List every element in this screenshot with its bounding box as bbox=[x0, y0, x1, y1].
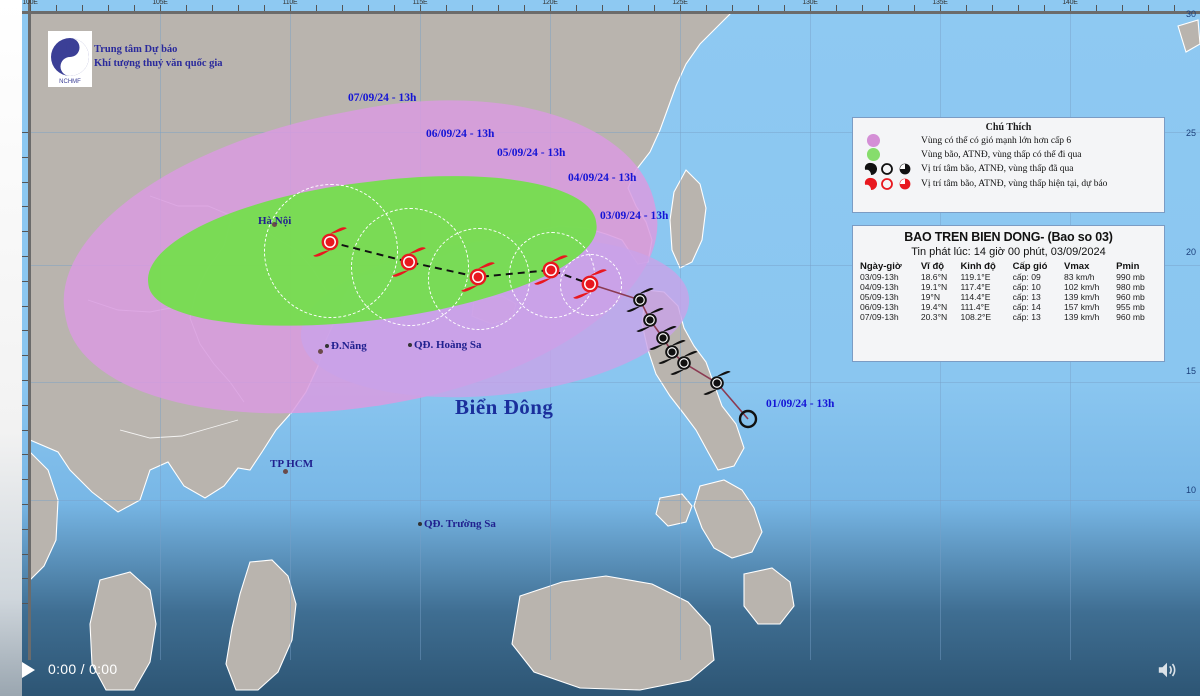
forecast-date-label-0309: 03/09/24 - 13h bbox=[600, 210, 668, 222]
lat-tick bbox=[22, 281, 28, 282]
legend-swatch-past-symbols bbox=[863, 162, 921, 176]
forecast-cell-0-0: 03/09-13h bbox=[859, 272, 920, 282]
cyclone-marker bbox=[703, 371, 730, 395]
video-player-controls[interactable]: 0:00 / 0:00 bbox=[0, 646, 1200, 696]
forecast-cell-2-3: cấp: 13 bbox=[1012, 292, 1063, 302]
lon-tick bbox=[1122, 5, 1123, 11]
lon-tick bbox=[56, 5, 57, 11]
lon-tick bbox=[1148, 5, 1149, 11]
place-label-danang: Đ.Nẵng bbox=[325, 340, 367, 352]
lat-tick bbox=[22, 157, 28, 158]
forecast-cell-4-0: 07/09-13h bbox=[859, 312, 920, 322]
city-dot-danang bbox=[318, 349, 323, 354]
lon-tick bbox=[810, 5, 811, 11]
legend-row-green: Vùng bão, ATNĐ, vùng thấp có thể đi qua bbox=[863, 148, 1164, 161]
cyclone-marker bbox=[461, 262, 495, 291]
lat-tick bbox=[22, 430, 28, 431]
forecast-table-col-5: Pmin bbox=[1115, 261, 1158, 272]
forecast-cell-0-5: 990 mb bbox=[1115, 272, 1158, 282]
lon-tick bbox=[498, 5, 499, 11]
forecast-table-row: 06/09-13h19.4°N111.4°Ecấp: 14157 km/h955… bbox=[859, 302, 1158, 312]
legend-swatch-current-symbols bbox=[863, 177, 921, 191]
sea-label-bien-dong: Biển Đông bbox=[455, 395, 553, 420]
lon-tick bbox=[914, 5, 915, 11]
forecast-table-header: Ngày-giờVĩ độKinh độCấp gióVmaxPmin bbox=[859, 261, 1158, 272]
timecode-display: 0:00 / 0:00 bbox=[48, 661, 117, 677]
lat-tick-label-right: 25 bbox=[1186, 128, 1196, 138]
forecast-table-row: 04/09-13h19.1°N117.4°Ecấp: 10102 km/h980… bbox=[859, 282, 1158, 292]
cyclone-marker bbox=[392, 247, 426, 276]
forecast-table-row: 03/09-13h18.6°N119.1°Ecấp: 0983 km/h990 … bbox=[859, 272, 1158, 282]
forecast-cell-1-5: 980 mb bbox=[1115, 282, 1158, 292]
lon-tick bbox=[342, 5, 343, 11]
forecast-cell-4-3: cấp: 13 bbox=[1012, 312, 1063, 322]
map-legend: Chú Thích Vùng có thể có gió mạnh lớn hơ… bbox=[852, 117, 1165, 213]
lat-tick bbox=[22, 231, 28, 232]
lon-tick bbox=[420, 5, 421, 11]
past-cyclone-icons bbox=[863, 162, 917, 176]
lon-tick bbox=[316, 5, 317, 11]
forecast-cell-2-1: 19°N bbox=[920, 292, 960, 302]
lon-tick bbox=[82, 5, 83, 11]
lon-tick bbox=[524, 5, 525, 11]
lon-tick bbox=[108, 5, 109, 11]
forecast-table-col-2: Kinh độ bbox=[959, 261, 1011, 272]
lon-tick bbox=[134, 5, 135, 11]
lon-tick bbox=[472, 5, 473, 11]
lon-tick bbox=[446, 5, 447, 11]
lon-tick bbox=[706, 5, 707, 11]
past-date-label-0109: 01/09/24 - 13h bbox=[766, 398, 834, 410]
lat-tick bbox=[22, 206, 28, 207]
lat-tick bbox=[22, 132, 28, 133]
lat-tick-label-right: 30 bbox=[1186, 9, 1196, 19]
lat-tick bbox=[22, 256, 28, 257]
forecast-cell-4-4: 139 km/h bbox=[1063, 312, 1115, 322]
forecast-cell-3-2: 111.4°E bbox=[959, 302, 1011, 312]
lon-tick bbox=[654, 5, 655, 11]
cyclone-marker bbox=[636, 308, 663, 332]
place-label-hoangsa: QĐ. Hoàng Sa bbox=[408, 339, 482, 351]
volume-icon[interactable] bbox=[1156, 660, 1178, 680]
lat-tick-label-right: 15 bbox=[1186, 366, 1196, 376]
forecast-cell-4-5: 960 mb bbox=[1115, 312, 1158, 322]
lat-tick-label-right: 10 bbox=[1186, 485, 1196, 495]
forecast-cell-0-3: cấp: 09 bbox=[1012, 272, 1063, 282]
forecast-cell-1-3: cấp: 10 bbox=[1012, 282, 1063, 292]
lat-tick bbox=[22, 330, 28, 331]
forecast-cell-0-1: 18.6°N bbox=[920, 272, 960, 282]
lon-tick bbox=[368, 5, 369, 11]
lat-tick-label-right: 20 bbox=[1186, 247, 1196, 257]
cyclone-marker bbox=[626, 288, 653, 312]
lat-tick bbox=[22, 479, 28, 480]
lon-tick bbox=[238, 5, 239, 11]
forecast-cell-2-0: 05/09-13h bbox=[859, 292, 920, 302]
forecast-cell-4-2: 108.2°E bbox=[959, 312, 1011, 322]
legend-row-past: Vị trí tâm bão, ATNĐ, vùng thấp đã qua bbox=[863, 162, 1164, 176]
lat-tick bbox=[22, 306, 28, 307]
legend-title: Chú Thích bbox=[853, 122, 1164, 133]
legend-label-green: Vùng bão, ATNĐ, vùng thấp có thể đi qua bbox=[921, 150, 1081, 160]
lon-tick bbox=[212, 5, 213, 11]
forecast-date-label-0509: 05/09/24 - 13h bbox=[497, 147, 565, 159]
agency-name: Trung tâm Dự báo Khí tượng thuỷ văn quốc… bbox=[94, 43, 223, 71]
longitude-axis bbox=[0, 11, 1200, 14]
storm-info-panel: BAO TREN BIEN DONG- (Bao so 03) Tin phát… bbox=[852, 225, 1165, 362]
lon-tick bbox=[576, 5, 577, 11]
lon-tick bbox=[628, 5, 629, 11]
place-label-hcmc: TP HCM bbox=[270, 458, 313, 470]
lon-tick bbox=[1070, 5, 1071, 11]
storm-bulletin-title: BAO TREN BIEN DONG- (Bao so 03) bbox=[859, 230, 1158, 244]
forecast-date-label-0609: 06/09/24 - 13h bbox=[426, 128, 494, 140]
play-button[interactable] bbox=[22, 662, 35, 678]
lat-tick bbox=[22, 380, 28, 381]
forecast-cell-2-4: 139 km/h bbox=[1063, 292, 1115, 302]
lat-tick bbox=[22, 405, 28, 406]
legend-swatch-violet bbox=[863, 134, 921, 147]
forecast-date-label-0409: 04/09/24 - 13h bbox=[568, 172, 636, 184]
lon-tick bbox=[1096, 5, 1097, 11]
latitude-axis bbox=[28, 0, 31, 660]
forecast-table-col-0: Ngày-giờ bbox=[859, 261, 920, 272]
forecast-cell-0-2: 119.1°E bbox=[959, 272, 1011, 282]
lon-tick bbox=[836, 5, 837, 11]
lat-tick bbox=[22, 603, 28, 604]
svg-text:NCHMF: NCHMF bbox=[59, 79, 81, 85]
forecast-table-row: 07/09-13h20.3°N108.2°Ecấp: 13139 km/h960… bbox=[859, 312, 1158, 322]
lon-tick bbox=[888, 5, 889, 11]
lon-tick bbox=[394, 5, 395, 11]
forecast-cell-2-5: 960 mb bbox=[1115, 292, 1158, 302]
lon-tick bbox=[264, 5, 265, 11]
lon-tick bbox=[784, 5, 785, 11]
forecast-cell-2-2: 114.4°E bbox=[959, 292, 1011, 302]
forecast-date-label-0709: 07/09/24 - 13h bbox=[348, 92, 416, 104]
lon-tick bbox=[602, 5, 603, 11]
forecast-table: Ngày-giờVĩ độKinh độCấp gióVmaxPmin 03/0… bbox=[859, 261, 1158, 322]
forecast-cell-0-4: 83 km/h bbox=[1063, 272, 1115, 282]
forecast-cell-4-1: 20.3°N bbox=[920, 312, 960, 322]
lon-tick bbox=[290, 5, 291, 11]
legend-label-current: Vị trí tâm bão, ATNĐ, vùng thấp hiện tại… bbox=[921, 179, 1107, 189]
lat-tick bbox=[22, 182, 28, 183]
current-cyclone-icons bbox=[863, 177, 917, 191]
forecast-table-col-1: Vĩ độ bbox=[920, 261, 960, 272]
marker-dot bbox=[408, 343, 412, 347]
legend-label-violet: Vùng có thể có gió mạnh lớn hơn cấp 6 bbox=[921, 136, 1071, 146]
lat-tick bbox=[22, 554, 28, 555]
lon-tick bbox=[732, 5, 733, 11]
lat-tick bbox=[22, 578, 28, 579]
forecast-cell-1-2: 117.4°E bbox=[959, 282, 1011, 292]
place-label-truongsa: QĐ. Trường Sa bbox=[418, 518, 496, 530]
cyclone-marker bbox=[573, 269, 607, 298]
legend-row-current: Vị trí tâm bão, ATNĐ, vùng thấp hiện tại… bbox=[863, 177, 1164, 191]
forecast-table-row: 05/09-13h19°N114.4°Ecấp: 13139 km/h960 m… bbox=[859, 292, 1158, 302]
lon-tick bbox=[940, 5, 941, 11]
legend-row-violet: Vùng có thể có gió mạnh lớn hơn cấp 6 bbox=[863, 134, 1164, 147]
cyclone-marker bbox=[534, 255, 568, 284]
legend-label-past: Vị trí tâm bão, ATNĐ, vùng thấp đã qua bbox=[921, 164, 1074, 174]
forecast-cell-1-4: 102 km/h bbox=[1063, 282, 1115, 292]
forecast-cell-1-0: 04/09-13h bbox=[859, 282, 920, 292]
lon-tick bbox=[160, 5, 161, 11]
storm-bulletin-subtitle: Tin phát lúc: 14 giờ 00 phút, 03/09/2024 bbox=[859, 246, 1158, 258]
lat-tick bbox=[22, 504, 28, 505]
forecast-table-col-3: Cấp gió bbox=[1012, 261, 1063, 272]
lat-tick bbox=[22, 355, 28, 356]
forecast-cell-3-0: 06/09-13h bbox=[859, 302, 920, 312]
storm-track-map-screenshot: Hà Nội Đ.Nẵng QĐ. Hoàng Sa TP HCM QĐ. Tr… bbox=[0, 0, 1200, 696]
lon-tick bbox=[1044, 5, 1045, 11]
lon-tick bbox=[862, 5, 863, 11]
cyclone-marker bbox=[313, 227, 347, 256]
lon-tick bbox=[1018, 5, 1019, 11]
legend-swatch-green bbox=[863, 148, 921, 161]
lat-tick bbox=[22, 454, 28, 455]
lon-tick bbox=[550, 5, 551, 11]
lon-tick bbox=[992, 5, 993, 11]
forecast-table-col-4: Vmax bbox=[1063, 261, 1115, 272]
lat-tick bbox=[22, 529, 28, 530]
lon-tick bbox=[186, 5, 187, 11]
marker-dot bbox=[325, 344, 329, 348]
forecast-cell-3-4: 157 km/h bbox=[1063, 302, 1115, 312]
page-left-gutter bbox=[0, 0, 22, 696]
forecast-cell-3-3: cấp: 14 bbox=[1012, 302, 1063, 312]
lon-tick bbox=[758, 5, 759, 11]
place-label-hanoi: Hà Nội bbox=[258, 215, 291, 227]
lon-tick bbox=[966, 5, 967, 11]
forecast-cell-1-1: 19.1°N bbox=[920, 282, 960, 292]
marker-dot bbox=[418, 522, 422, 526]
lon-tick bbox=[680, 5, 681, 11]
lon-tick bbox=[30, 5, 31, 11]
forecast-cell-3-1: 19.4°N bbox=[920, 302, 960, 312]
nchmf-logo-icon: NCHMF bbox=[48, 31, 92, 87]
forecast-cell-3-5: 955 mb bbox=[1115, 302, 1158, 312]
lon-tick bbox=[1174, 5, 1175, 11]
